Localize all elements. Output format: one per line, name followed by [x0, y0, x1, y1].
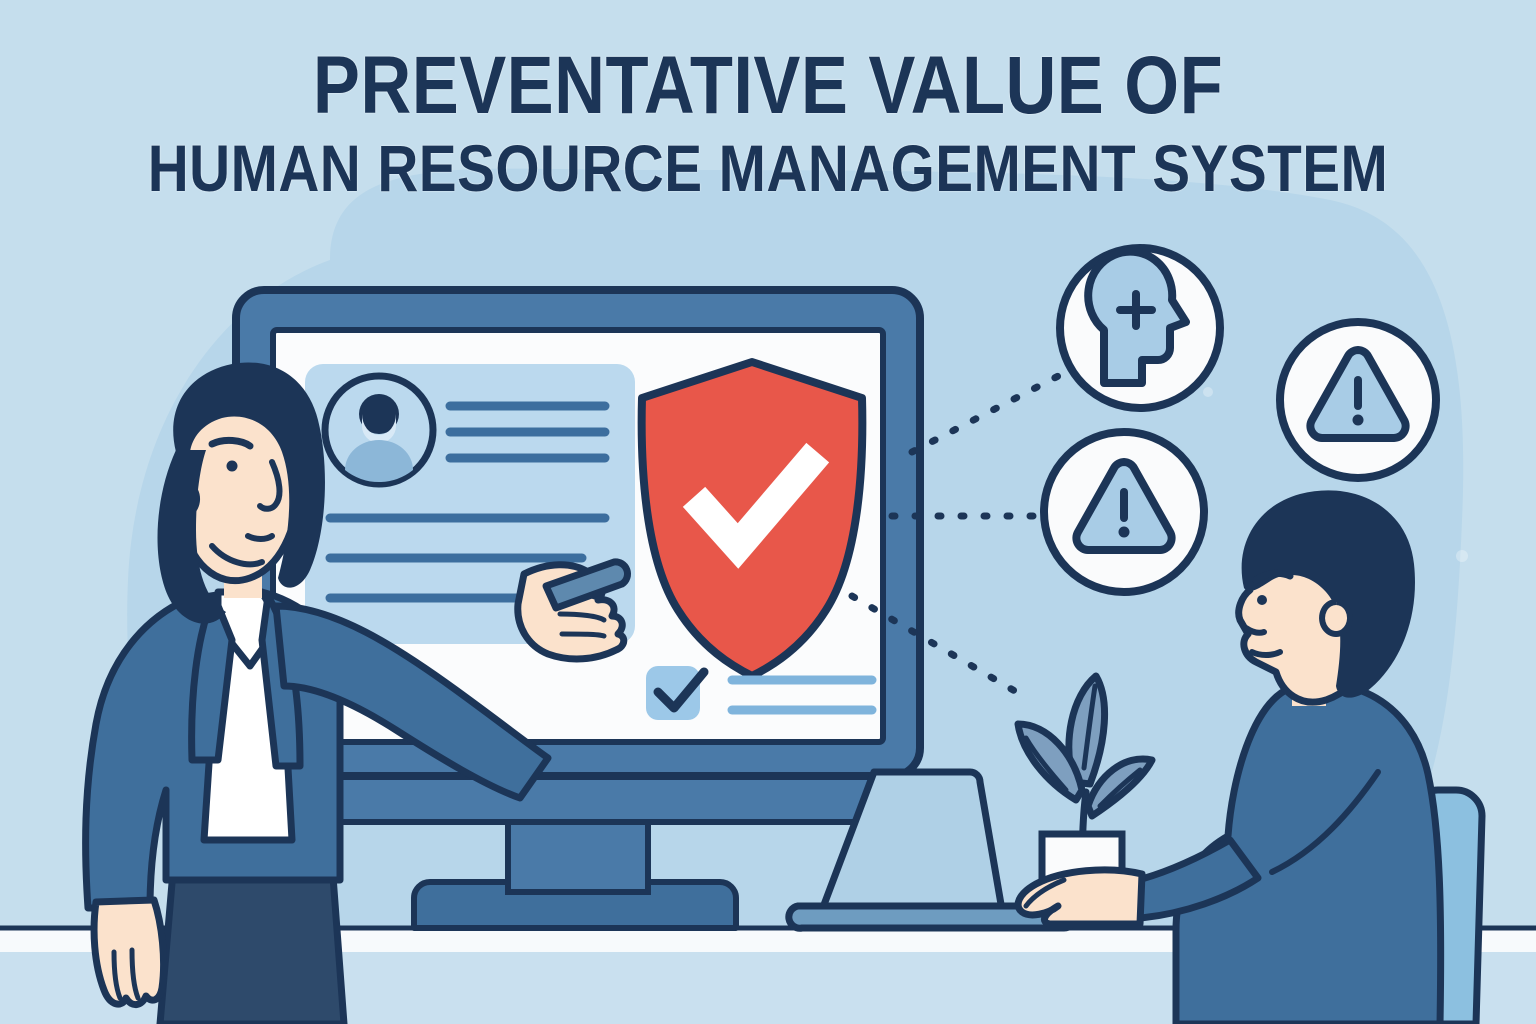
hr-management-system-illustration: [0, 0, 1536, 1024]
employee-avatar-icon: [325, 376, 433, 484]
badge-mental-health[interactable]: [1060, 248, 1220, 408]
badge-warning-lower[interactable]: [1044, 432, 1204, 592]
presenter-left-hand: [94, 900, 164, 1005]
illustration-canvas: Preventative Value of Human Resource Man…: [0, 0, 1536, 1024]
badge-warning-right[interactable]: [1280, 322, 1436, 478]
